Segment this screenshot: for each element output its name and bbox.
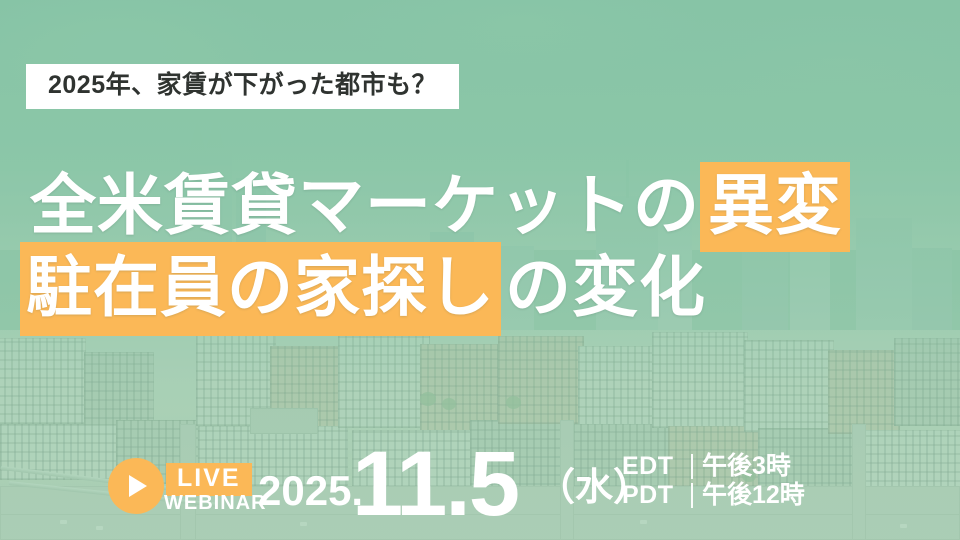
- date-monthday: 11.5: [352, 438, 518, 530]
- divider: [691, 483, 693, 508]
- timezone-list: EDT 午後3時 PDT 午後12時: [622, 452, 805, 510]
- date-year: 2025.: [258, 470, 363, 512]
- schedule-bar: LIVE WEBINAR 2025. 11.5 （水） EDT 午後3時 PDT…: [0, 448, 960, 528]
- timezone-row: EDT 午後3時: [622, 452, 805, 481]
- headline-segment: 全米賃貸マーケットの: [30, 168, 700, 242]
- play-triangle-icon: [129, 475, 147, 497]
- live-webinar-badge: LIVE WEBINAR: [108, 458, 258, 516]
- headline-highlight: 異変: [700, 162, 850, 252]
- divider: [691, 454, 693, 479]
- timezone-time: 午後3時: [702, 454, 791, 479]
- eyebrow-label: 2025年、家賃が下がった都市も？: [26, 64, 459, 109]
- webinar-label: WEBINAR: [164, 493, 267, 513]
- headline: 全米賃貸マーケットの異変 駐在員の家探しの変化: [0, 172, 960, 320]
- headline-line-1: 全米賃貸マーケットの異変: [0, 172, 960, 238]
- play-icon: [108, 458, 164, 514]
- timezone-row: PDT 午後12時: [622, 481, 805, 510]
- webinar-banner: 2025年、家賃が下がった都市も？ 全米賃貸マーケットの異変 駐在員の家探しの変…: [0, 0, 960, 540]
- timezone-name: PDT: [622, 483, 688, 508]
- headline-line-2: 駐在員の家探しの変化: [0, 254, 960, 320]
- timezone-time: 午後12時: [702, 483, 805, 508]
- headline-segment: の変化: [505, 250, 706, 324]
- banner-content: 2025年、家賃が下がった都市も？ 全米賃貸マーケットの異変 駐在員の家探しの変…: [0, 0, 960, 540]
- headline-highlight: 駐在員の家探し: [20, 242, 501, 336]
- timezone-name: EDT: [622, 454, 688, 479]
